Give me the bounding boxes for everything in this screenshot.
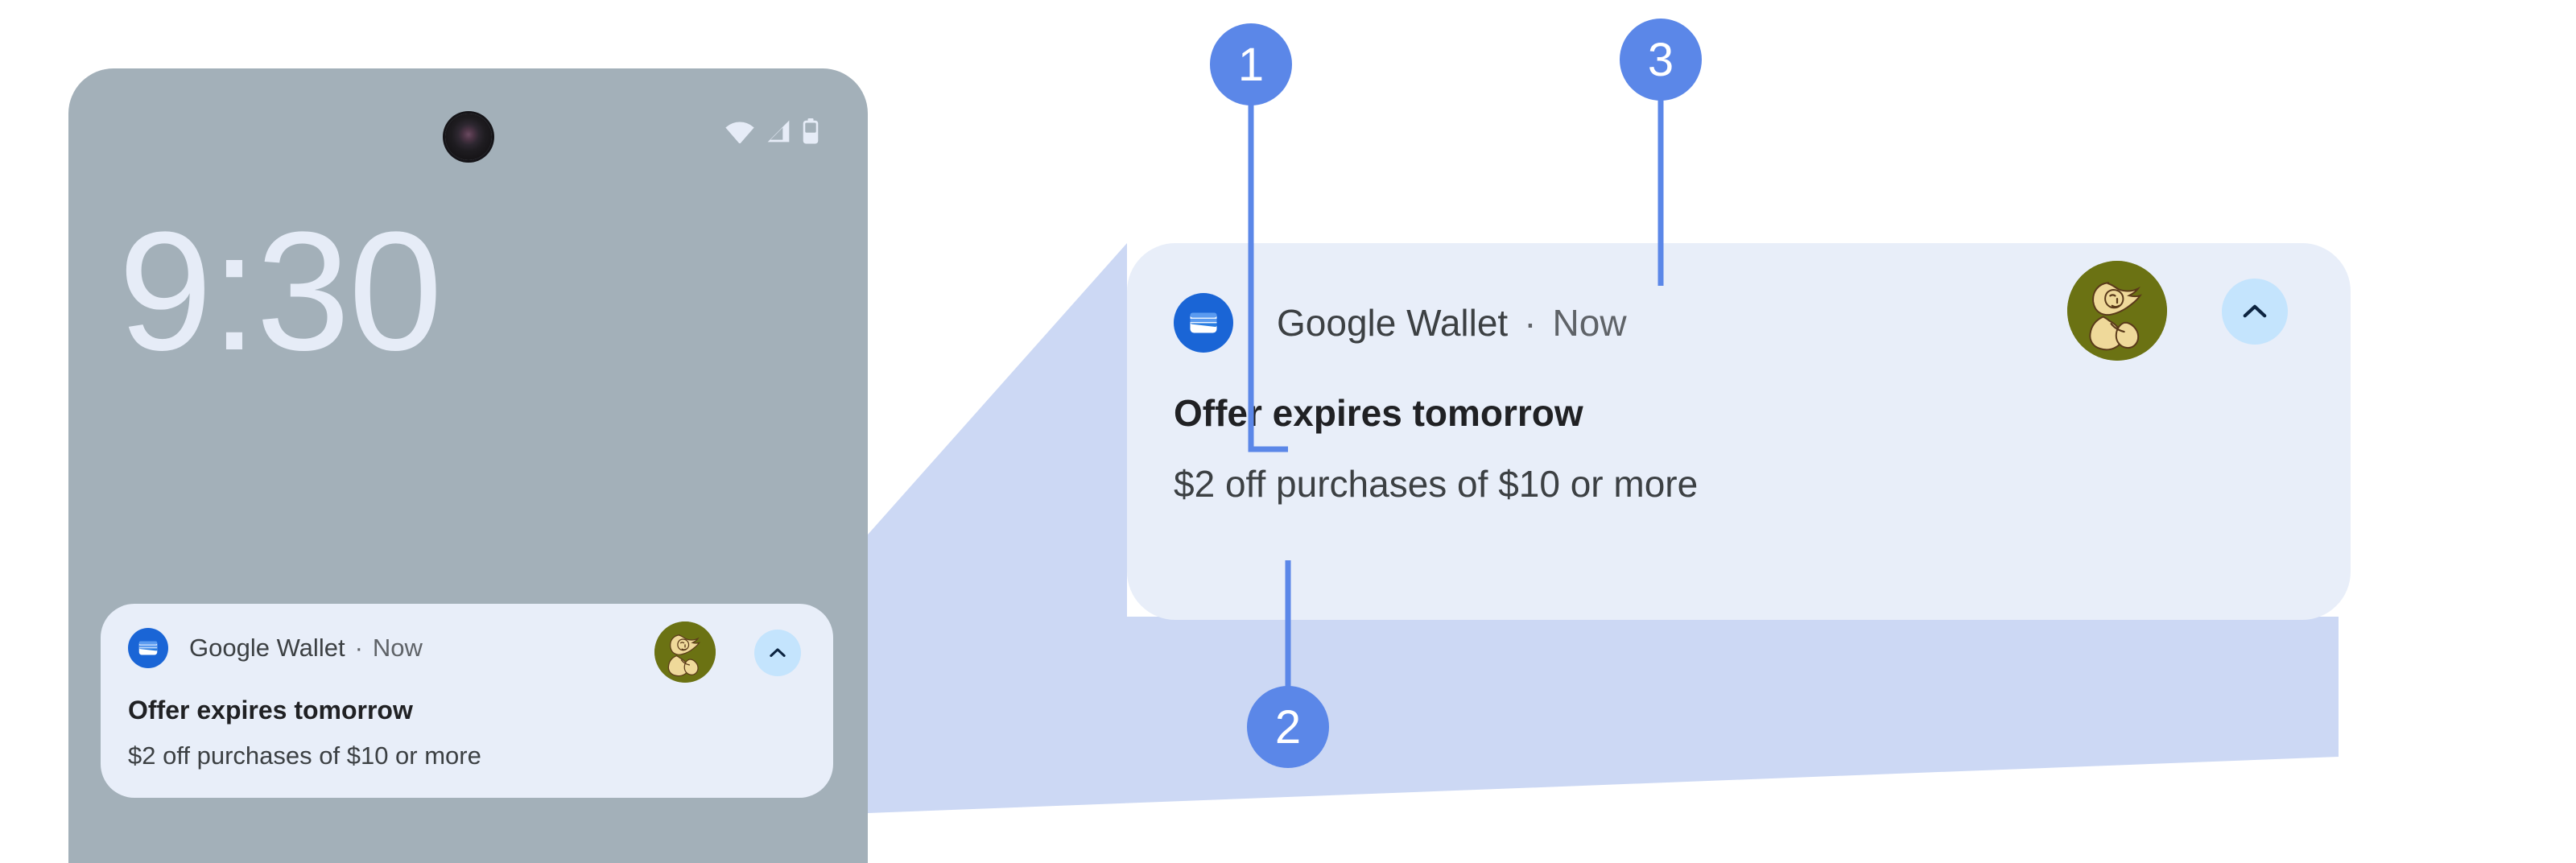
merchant-avatar-glyph	[654, 621, 716, 683]
separator-dot-small: ·	[355, 634, 363, 662]
app-name-small: Google Wallet	[189, 634, 345, 662]
front-camera-icon	[445, 114, 492, 160]
callout-illustration: 9:30 Google Wallet·Now	[0, 0, 2576, 863]
notification-app-line-small: Google Wallet·Now	[189, 634, 423, 663]
status-bar-icons	[724, 118, 819, 144]
notification-card-expanded[interactable]: Google Wallet·Now	[1127, 243, 2351, 620]
timestamp-small: Now	[373, 634, 423, 662]
merchant-avatar-icon	[654, 621, 716, 683]
wallet-glyph	[1186, 305, 1221, 341]
chevron-up-icon	[766, 642, 789, 664]
merchant-avatar-glyph	[2067, 261, 2167, 361]
app-name: Google Wallet	[1277, 302, 1508, 344]
callout-badge-3[interactable]: 3	[1620, 19, 1702, 101]
notification-body: $2 off purchases of $10 or more	[1174, 462, 2351, 506]
notification-header: Google Wallet·Now	[1127, 243, 2351, 353]
expand-button[interactable]	[2222, 279, 2288, 345]
notification-title-small: Offer expires tomorrow	[128, 696, 806, 725]
separator-dot: ·	[1524, 302, 1536, 344]
merchant-avatar-icon	[2067, 261, 2167, 361]
callout-badge-1[interactable]: 1	[1210, 23, 1292, 105]
timestamp: Now	[1553, 302, 1627, 344]
google-wallet-icon	[128, 628, 168, 668]
chevron-up-icon	[2238, 295, 2272, 328]
cellular-signal-icon	[765, 119, 792, 143]
lockscreen-clock: 9:30	[118, 207, 441, 376]
wallet-glyph	[136, 636, 160, 660]
notification-title: Offer expires tomorrow	[1174, 391, 2351, 435]
notification-card-small[interactable]: Google Wallet·Now	[101, 604, 833, 798]
wifi-icon	[724, 119, 755, 143]
notification-app-line: Google Wallet·Now	[1277, 301, 1627, 345]
google-wallet-icon	[1174, 293, 1233, 353]
expand-button-small[interactable]	[754, 630, 801, 676]
phone-device: 9:30 Google Wallet·Now	[68, 68, 868, 863]
battery-icon	[802, 118, 819, 144]
notification-body-small: $2 off purchases of $10 or more	[128, 741, 806, 770]
callout-badge-2[interactable]: 2	[1247, 686, 1329, 768]
notification-header-small: Google Wallet·Now	[128, 628, 806, 668]
